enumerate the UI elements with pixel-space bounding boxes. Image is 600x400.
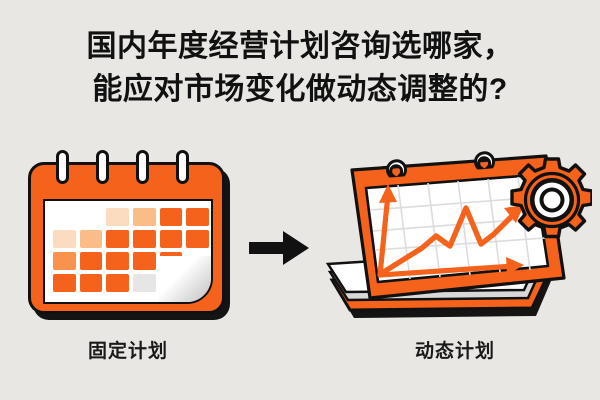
calendar-icon (28, 162, 228, 317)
calendar-day-cell (133, 208, 156, 226)
headline-line-1: 国内年度经营计划咨询选哪家， (0, 26, 600, 69)
calendar-day-cell (80, 208, 103, 226)
gear-icon (512, 159, 592, 237)
calendar-ring (96, 150, 109, 184)
dynamic-chart-calendar-gear-icon (318, 148, 592, 338)
calendar-day-cell (80, 230, 103, 248)
calendar-day-cell (133, 274, 156, 292)
panel-dynamic-caption: 动态计划 (318, 336, 592, 363)
calendar-day-cell (160, 208, 183, 226)
right-arrow-icon (249, 228, 311, 268)
calendar-day-cell (80, 274, 103, 292)
calendar-ring (176, 150, 189, 184)
calendar-day-cell (133, 252, 156, 270)
headline-line-2: 能应对市场变化做动态调整的? (0, 69, 600, 112)
calendar-page-fold (159, 256, 213, 304)
calendar-day-cell (160, 230, 183, 248)
calendar-day-cell (186, 208, 209, 226)
calendar-day-cell (106, 252, 129, 270)
panel-fixed-caption: 固定计划 (8, 336, 248, 363)
calendar-day-cell (106, 208, 129, 226)
calendar-day-cell (53, 252, 76, 270)
panel-fixed-plan: 固定计划 (8, 148, 248, 363)
poster-canvas: 国内年度经营计划咨询选哪家， 能应对市场变化做动态调整的? 固定计划 (0, 0, 600, 400)
calendar-day-cell (53, 274, 76, 292)
calendar-rings (28, 150, 225, 190)
calendar-day-cell (53, 230, 76, 248)
calendar-day-cell (106, 230, 129, 248)
panel-dynamic-plan: 动态计划 (318, 148, 592, 363)
calendar-page (43, 199, 213, 304)
calendar-day-cell (53, 208, 76, 226)
calendar-ring (136, 150, 149, 184)
calendar-day-cell (80, 252, 103, 270)
page-title: 国内年度经营计划咨询选哪家， 能应对市场变化做动态调整的? (0, 26, 600, 111)
calendar-day-cell (133, 230, 156, 248)
calendar-day-cell (186, 230, 209, 248)
calendar-day-cell (106, 274, 129, 292)
calendar-ring (56, 150, 69, 184)
